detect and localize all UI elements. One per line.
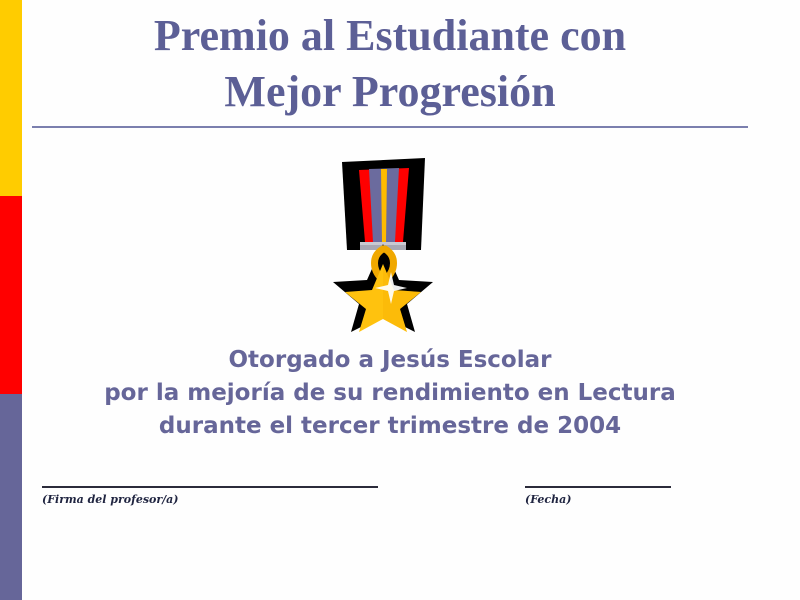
award-line-3: durante el tercer trimestre de 2004 — [32, 410, 748, 443]
certificate-slide: Premio al Estudiante con Mejor Progresió… — [0, 0, 800, 600]
signature-area: (Firma del profesor/a) (Fecha) — [0, 486, 800, 546]
award-body-text: Otorgado a Jesús Escolar por la mejoría … — [32, 344, 748, 443]
color-bar-segment-yellow — [0, 0, 22, 196]
date-label: (Fecha) — [525, 492, 671, 508]
title-line-1: Premio al Estudiante con — [32, 8, 748, 64]
page-title: Premio al Estudiante con Mejor Progresió… — [32, 8, 748, 120]
title-divider — [32, 126, 748, 128]
award-line-2: por la mejoría de su rendimiento en Lect… — [32, 377, 748, 410]
signature-label: (Firma del profesor/a) — [42, 492, 378, 508]
award-line-1: Otorgado a Jesús Escolar — [32, 344, 748, 377]
award-medal-star-icon — [333, 152, 433, 332]
signature-field[interactable]: (Firma del profesor/a) — [42, 486, 378, 508]
title-line-2: Mejor Progresión — [32, 64, 748, 120]
date-line — [525, 486, 671, 488]
date-field[interactable]: (Fecha) — [525, 486, 671, 508]
color-bar-segment-red — [0, 196, 22, 394]
signature-line — [42, 486, 378, 488]
